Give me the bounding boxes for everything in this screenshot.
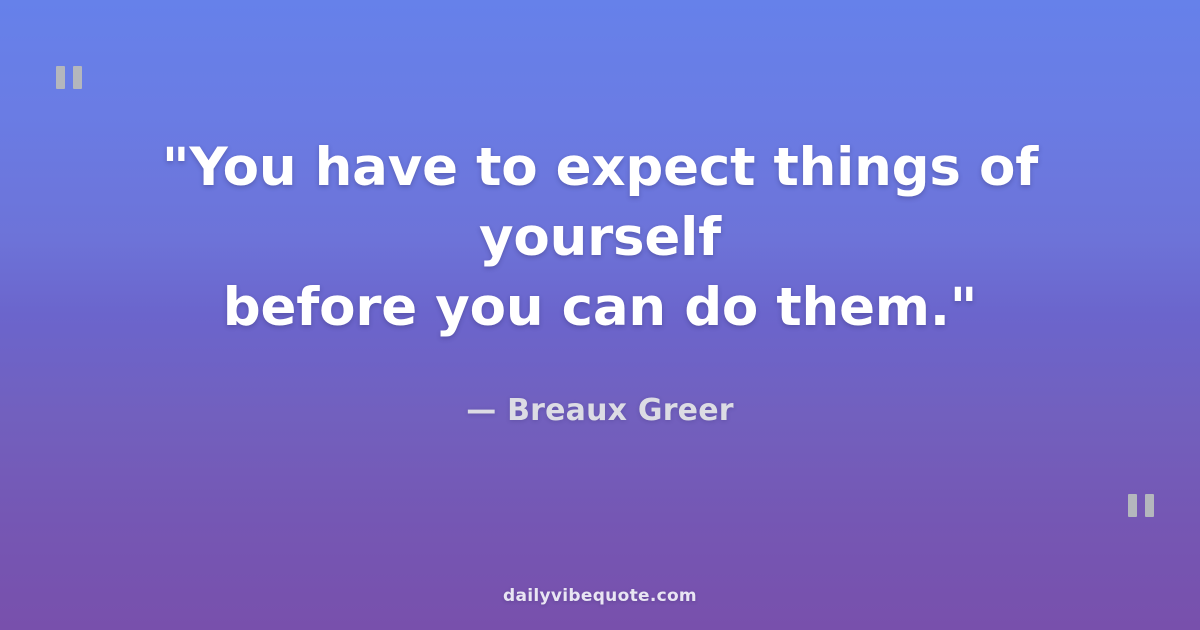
site-url: dailyvibequote.com [503,586,697,606]
quote-author: — Breaux Greer [466,343,734,428]
quote-mark-icon-bottom [1128,494,1154,517]
quote-mark-bar-left [1128,494,1137,517]
quote-card: "You have to expect things of yourself b… [0,0,1200,630]
quote-text: "You have to expect things of yourself b… [70,133,1130,343]
quote-footer: dailyvibequote.com [0,586,1200,606]
quote-mark-bar-right [1145,494,1154,517]
quote-content: "You have to expect things of yourself b… [0,0,1200,560]
